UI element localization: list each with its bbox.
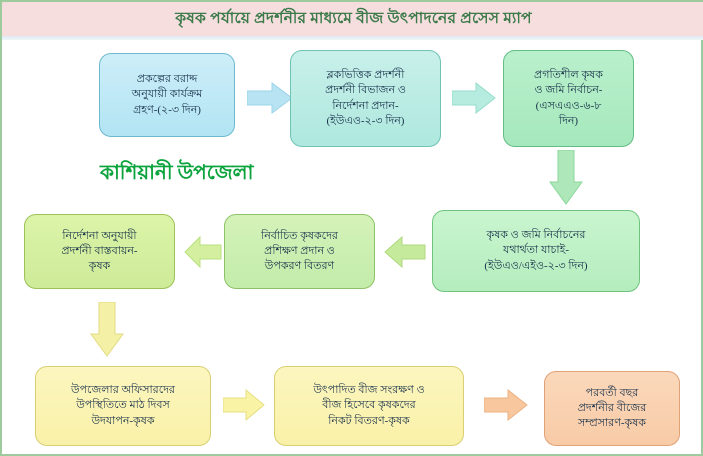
process-node-4-label: কৃষক ও জমি নির্বাচনের যথার্থতা যাচাই- (ই… [440, 228, 632, 274]
node-8-line-1: উৎপাদিত বীজ সংরক্ষণ ও [282, 383, 456, 398]
node-4-line-2: যথার্থতা যাচাই- [440, 243, 632, 258]
node-2-line-3: নির্দেশনা প্রদান- [298, 99, 433, 114]
process-node-2-label: ব্লকভিত্তিক প্রদর্শনী প্রদর্শনী বিভাজন ও… [298, 68, 433, 129]
arrow-6-7 [90, 302, 124, 357]
node-5-line-3: উপকরণ বিতরণ [232, 259, 367, 274]
node-7-line-3: উদযাপন-কৃষক [43, 414, 203, 429]
header-underline [2, 36, 703, 40]
arrow-5-6 [184, 236, 222, 268]
process-node-7-label: উপজেলার অফিসারদের উপস্থিতিতে মাঠ দিবস উদ… [43, 383, 203, 429]
process-node-9[interactable]: পরবর্তী বছর প্রদর্শনীর বীজের সম্প্রসারণ-… [544, 371, 680, 446]
node-2-line-2: প্রদর্শনী বিভাজন ও [298, 83, 433, 98]
node-4-line-3: (ইউএও/এইও-২-৩ দিন) [440, 259, 632, 274]
process-node-5-label: নির্বাচিত কৃষকদের প্রশিক্ষণ প্রদান ও উপক… [232, 229, 367, 275]
node-9-line-1: পরবর্তী বছর [552, 386, 672, 401]
node-6-line-3: কৃষক [32, 259, 167, 274]
node-8-line-3: নিকট বিতরণ-কৃষক [282, 414, 456, 429]
node-1-line-1: প্রকল্পের বরাদ্দ [107, 72, 227, 87]
node-6-line-2: প্রদর্শনী বাস্তবায়ন- [32, 244, 167, 259]
node-9-line-3: সম্প্রসারণ-কৃষক [552, 416, 672, 431]
node-7-line-2: উপস্থিতিতে মাঠ দিবস [43, 398, 203, 413]
node-3-line-4: দিন) [511, 114, 626, 129]
node-9-line-2: প্রদর্শনীর বীজের [552, 401, 672, 416]
node-8-line-2: বীজ হিসেবে কৃষকদের [282, 398, 456, 413]
diagram-frame: কৃষক পর্যায়ে প্রদর্শনীর মাধ্যমে বীজ উৎপ… [0, 0, 703, 456]
process-node-8-label: উৎপাদিত বীজ সংরক্ষণ ও বীজ হিসেবে কৃষকদের… [282, 383, 456, 429]
process-node-1-label: প্রকল্পের বরাদ্দ অনুযায়ী কার্যক্রম গ্রহ… [107, 72, 227, 118]
node-5-line-2: প্রশিক্ষণ প্রদান ও [232, 244, 367, 259]
process-node-3-label: প্রগতিশীল কৃষক ও জমি নির্বাচন- (এসএএও-৬-… [511, 68, 626, 129]
arrow-4-5 [384, 236, 426, 268]
node-6-line-1: নির্দেশনা অনুযায়ী [32, 229, 167, 244]
arrow-8-9 [484, 389, 528, 421]
node-3-line-3: (এসএএও-৬-৮ [511, 99, 626, 114]
process-node-9-label: পরবর্তী বছর প্রদর্শনীর বীজের সম্প্রসারণ-… [552, 386, 672, 432]
node-3-line-2: ও জমি নির্বাচন- [511, 83, 626, 98]
process-node-3[interactable]: প্রগতিশীল কৃষক ও জমি নির্বাচন- (এসএএও-৬-… [503, 50, 634, 147]
arrow-2-3 [452, 82, 496, 114]
node-7-line-1: উপজেলার অফিসারদের [43, 383, 203, 398]
node-2-line-4: (ইউএও-২-৩ দিন) [298, 114, 433, 129]
process-node-1[interactable]: প্রকল্পের বরাদ্দ অনুযায়ী কার্যক্রম গ্রহ… [99, 53, 235, 137]
arrow-3-4 [549, 150, 583, 205]
process-node-6[interactable]: নির্দেশনা অনুযায়ী প্রদর্শনী বাস্তবায়ন-… [24, 214, 175, 289]
node-5-line-1: নির্বাচিত কৃষকদের [232, 229, 367, 244]
node-1-line-2: অনুযায়ী কার্যক্রম [107, 87, 227, 102]
arrow-1-2 [247, 82, 293, 114]
arrow-7-8 [223, 389, 265, 421]
process-node-7[interactable]: উপজেলার অফিসারদের উপস্থিতিতে মাঠ দিবস উদ… [35, 366, 211, 446]
node-1-line-3: গ্রহণ-(২-৩ দিন) [107, 103, 227, 118]
process-node-8[interactable]: উৎপাদিত বীজ সংরক্ষণ ও বীজ হিসেবে কৃষকদের… [274, 366, 464, 446]
node-3-line-1: প্রগতিশীল কৃষক [511, 68, 626, 83]
process-node-6-label: নির্দেশনা অনুযায়ী প্রদর্শনী বাস্তবায়ন-… [32, 229, 167, 275]
upazila-label: কাশিয়ানী উপজেলা [100, 158, 253, 191]
process-node-5[interactable]: নির্বাচিত কৃষকদের প্রশিক্ষণ প্রদান ও উপক… [224, 214, 375, 289]
header-bar: কৃষক পর্যায়ে প্রদর্শনীর মাধ্যমে বীজ উৎপ… [2, 2, 703, 36]
node-2-line-1: ব্লকভিত্তিক প্রদর্শনী [298, 68, 433, 83]
process-node-4[interactable]: কৃষক ও জমি নির্বাচনের যথার্থতা যাচাই- (ই… [432, 210, 640, 292]
page-title: কৃষক পর্যায়ে প্রদর্শনীর মাধ্যমে বীজ উৎপ… [175, 6, 532, 32]
node-4-line-1: কৃষক ও জমি নির্বাচনের [440, 228, 632, 243]
process-node-2[interactable]: ব্লকভিত্তিক প্রদর্শনী প্রদর্শনী বিভাজন ও… [290, 50, 441, 147]
